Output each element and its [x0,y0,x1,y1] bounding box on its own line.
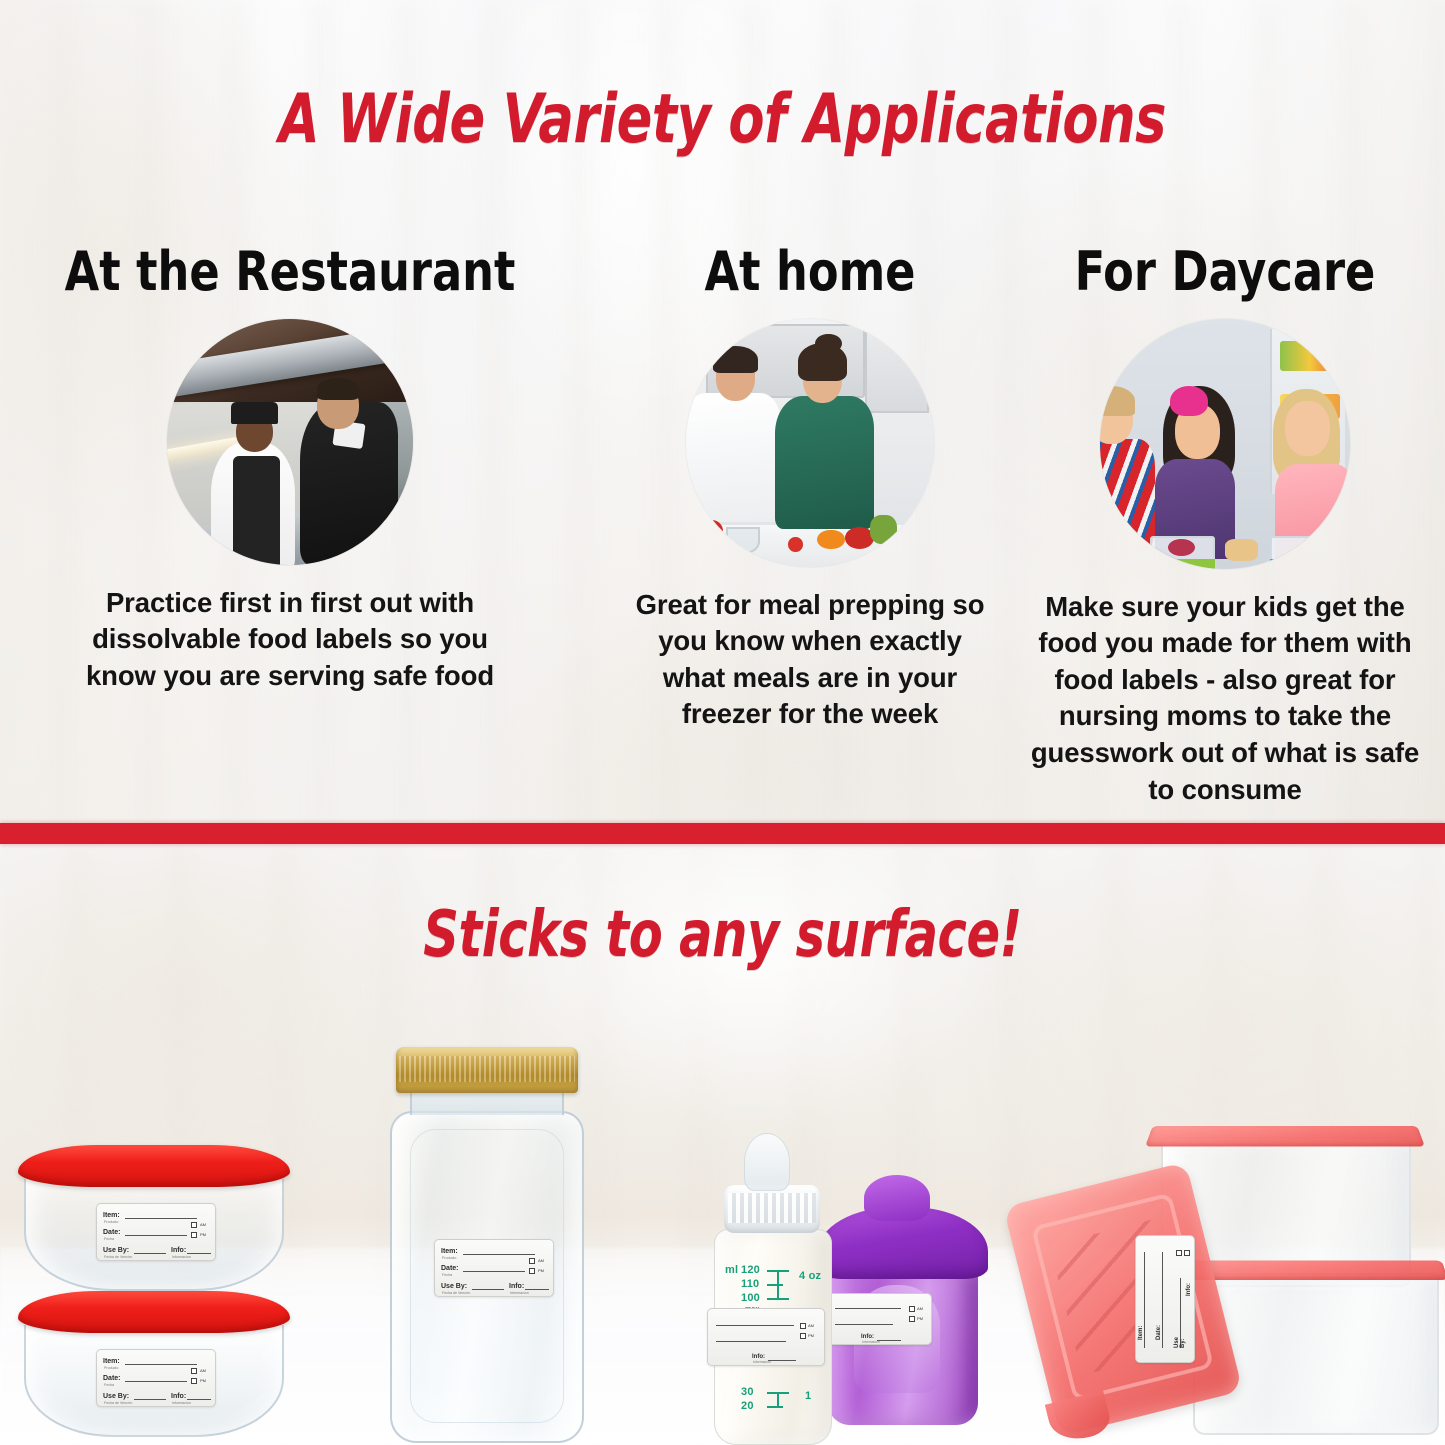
column-heading-restaurant: At the Restaurant [51,244,529,301]
bottle-mark-100: 100 [741,1292,760,1304]
label-info-caption: Info: [171,1393,186,1400]
label-useby-caption: Use By: [103,1393,129,1400]
label-item-line [125,1364,197,1365]
home-cabinet-right [865,329,929,413]
label-pm-checkbox[interactable] [909,1316,915,1322]
label-info-line [187,1399,211,1400]
label-am-checkbox[interactable] [191,1222,197,1228]
label-item-sub: Producto [442,1257,456,1261]
label-date-caption: Date: [441,1265,459,1272]
bottle-mark-120: 120 [741,1264,760,1276]
chef-hat [231,402,278,424]
label-date-sub: Fecha [442,1274,452,1278]
manager-hair [317,378,359,400]
label-pm-checkbox[interactable] [800,1333,806,1339]
label-pm-checkbox[interactable] [191,1378,197,1384]
label-pm-text: PM [200,1233,206,1237]
label-date-caption: Date: [103,1375,121,1382]
infographic-page: A Wide Variety of Applications At the Re… [0,0,1445,1445]
column-body-daycare: Make sure your kids get the food you mad… [1015,589,1435,808]
label-useby-sub: Fecha de Vencim. [104,1256,133,1260]
label-item-caption: Item: [441,1248,458,1255]
label-pm-text: PM [200,1379,206,1383]
bottle-mark-30: 30 [741,1386,754,1398]
restaurant-photo [167,319,413,565]
secondary-title: Sticks to any surface! [101,898,1344,972]
label-useby-line [134,1253,166,1254]
bottle-nipple [744,1133,790,1191]
label-pm-text: PM [808,1334,814,1338]
baby-bottle: ml 120 110 100 max 4 oz 30 20 1 [700,1185,860,1445]
label-date-caption: Date: [103,1229,121,1236]
label-date-sub: Fecha [104,1238,114,1242]
label-info-caption: Info: [1186,1283,1192,1296]
page-title: A Wide Variety of Applications [101,80,1344,159]
label-date-line [716,1341,786,1342]
glass-bowl [726,527,761,554]
bottle-vline-bottom [777,1392,779,1408]
sandwich [1225,539,1258,562]
column-body-restaurant: Practice first in first out with dissolv… [30,585,550,695]
lunch-container-right-lid [1270,559,1335,569]
label-pm-checkbox[interactable] [191,1232,197,1238]
home-counter [686,525,934,567]
bottle-body-with-milk: ml 120 110 100 max 4 oz 30 20 1 [714,1229,832,1445]
home-kitchen-photo [686,319,934,567]
label-item-caption: Item: [103,1212,120,1219]
label-item-sub: Producto [104,1221,118,1225]
glass-container-stack: Item: Producto Date: Fecha AM PM Use By:… [18,1145,318,1440]
label-item-line [125,1218,197,1219]
square-mason-jar: Item: Producto Date: Fecha AM PM Use By:… [388,1047,586,1443]
shelf-items-top [1280,341,1340,371]
label-am-text: AM [200,1369,206,1373]
red-lid-top [18,1145,290,1187]
label-item-caption: Item: [103,1358,120,1365]
label-am-checkbox[interactable] [909,1306,915,1312]
lunch-container-left-lid [1150,559,1215,569]
plastic-container-set: Item: Date: Use By: Info: [1005,1115,1445,1445]
woman-green-sweater [775,396,874,530]
label-am-checkbox[interactable] [529,1258,535,1264]
label-date-sub: Fecha [104,1384,114,1388]
bottle-tick-top-2 [767,1284,783,1286]
label-am-checkbox[interactable] [191,1368,197,1374]
label-am-checkbox[interactable] [800,1323,806,1329]
gold-jar-lid [396,1047,578,1093]
grapes [1168,539,1196,557]
label-useby-caption: Use By: [103,1247,129,1254]
label-am-text: AM [808,1324,814,1328]
label-date-line-vertical [1162,1252,1163,1348]
applications-columns: At the Restaurant [0,244,1445,804]
label-info-line [187,1253,211,1254]
label-info-sub: Informacion [510,1292,529,1296]
label-useby-sub: Fecha de Vencim. [442,1292,471,1296]
label-useby-caption: Use By: [441,1283,467,1290]
bottle-mark-110: 110 [741,1278,759,1290]
orange-vegetables [817,530,844,550]
pink-hair-bow [1170,386,1208,416]
bottle-unit-label: ml [725,1264,738,1276]
application-column-daycare: For Daycare [1015,244,1435,804]
application-column-home: At home [620,244,1000,804]
label-info-caption: Info: [171,1247,186,1254]
bottle-mark-20: 20 [741,1400,754,1412]
label-am-text: AM [917,1307,923,1311]
label-info-line [525,1289,549,1290]
label-useby-sub: Fecha de Vencim. [104,1402,133,1406]
food-label-sticker: Item: Producto Date: Fecha AM PM Use By:… [96,1203,216,1261]
food-label-sticker: AM PM Info: Informacion [707,1308,825,1366]
label-item-line [716,1325,794,1326]
red-divider-bar [0,823,1445,844]
sippy-cup-spout [864,1175,930,1221]
label-am-checkbox[interactable] [1176,1250,1182,1256]
label-date-line [125,1381,187,1382]
bottle-vline-top [777,1270,779,1300]
label-info-sub: Informacion [753,1361,771,1364]
chef-apron [233,456,280,564]
label-pm-checkbox[interactable] [529,1268,535,1274]
bottle-collar [724,1185,820,1233]
bottle-mark-1oz: 1 [805,1390,811,1402]
man-white-shirt [686,393,780,522]
girl-right-head [1285,401,1330,456]
application-column-restaurant: At the Restaurant [30,244,550,804]
man-hair [713,346,758,373]
label-pm-text: PM [538,1269,544,1273]
product-photo-row: Item: Producto Date: Fecha AM PM Use By:… [0,1040,1445,1445]
label-info-caption: Info: [509,1283,524,1290]
column-body-home: Great for meal prepping so you know when… [620,587,1000,733]
label-useby-line [472,1289,504,1290]
food-label-sticker-vertical: Item: Date: Use By: Info: [1135,1235,1195,1363]
label-date-line [125,1235,187,1236]
label-info-sub: Informacion [862,1341,880,1344]
label-item-caption: Item: [1138,1326,1144,1340]
label-item-line [463,1254,535,1255]
daycare-photo [1100,319,1350,569]
red-lid-bottom [18,1291,290,1333]
boy-striped-shirt [1100,439,1155,554]
label-info-line [768,1360,796,1361]
bottle-tick-bottom-2 [767,1406,783,1408]
tomato-small [788,537,803,552]
label-pm-checkbox[interactable] [1184,1250,1190,1256]
label-date-line [463,1271,525,1272]
label-info-sub: Informacion [172,1256,191,1260]
label-useby-caption: Use By: [1174,1328,1186,1348]
label-am-text: AM [538,1259,544,1263]
food-label-sticker: Item: Producto Date: Fecha AM PM Use By:… [96,1349,216,1407]
label-pm-text: PM [917,1317,923,1321]
label-am-text: AM [200,1223,206,1227]
label-item-line-vertical [1144,1252,1145,1348]
boy-hair [1100,386,1135,416]
food-label-sticker: Item: Producto Date: Fecha AM PM Use By:… [434,1239,554,1297]
bottle-mark-4oz: 4 oz [799,1270,821,1282]
label-date-caption: Date: [1156,1325,1162,1340]
label-useby-line [134,1399,166,1400]
label-item-sub: Producto [104,1367,118,1371]
label-info-line [877,1340,901,1341]
label-info-sub: Informacion [172,1402,191,1406]
column-heading-home: At home [635,244,985,301]
column-heading-daycare: For Daycare [1032,244,1418,301]
red-pepper [701,520,723,542]
lettuce [870,515,897,545]
